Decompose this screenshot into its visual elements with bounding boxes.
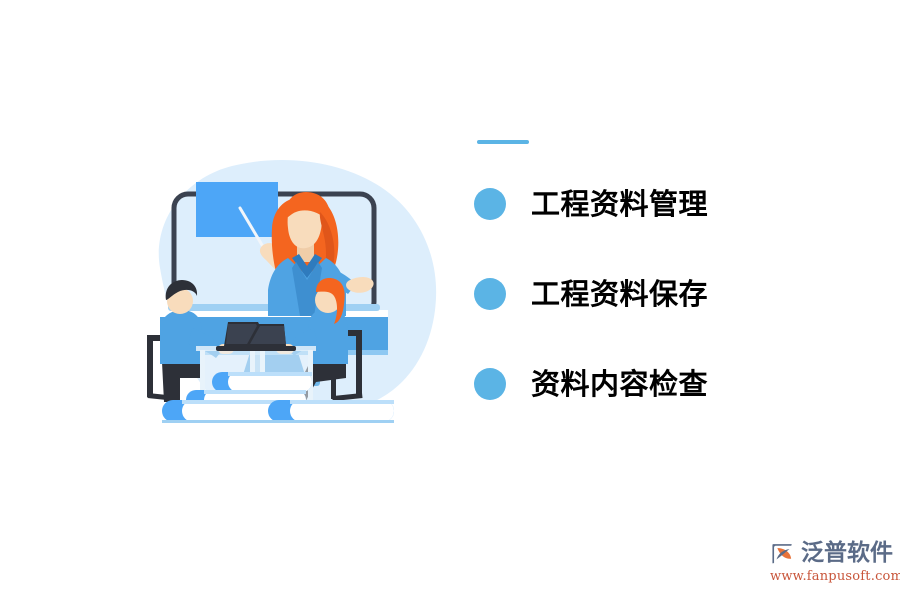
feature-item-2[interactable]: 工程资料保存 (474, 278, 794, 310)
fanpu-logo-icon (770, 540, 796, 566)
accent-rule (477, 140, 529, 144)
brand-url: www.fanpusoft.com (770, 569, 895, 584)
presentation-board (196, 182, 278, 237)
bullet-dot-icon (474, 278, 506, 310)
feature-item-label: 工程资料保存 (531, 280, 708, 309)
online-classroom-illustration (100, 150, 460, 430)
feature-item-label: 工程资料管理 (531, 190, 708, 219)
bullet-dot-icon (474, 368, 506, 400)
bullet-dot-icon (474, 188, 506, 220)
slide-canvas: 工程资料管理 工程资料保存 资料内容检查 泛普软件 www.fanpusoft.… (0, 0, 900, 600)
feature-list: 工程资料管理 工程资料保存 资料内容检查 (474, 140, 794, 400)
logo-row: 泛普软件 (770, 540, 895, 566)
brand-logo[interactable]: 泛普软件 www.fanpusoft.com (770, 540, 895, 592)
feature-item-3[interactable]: 资料内容检查 (474, 368, 794, 400)
feature-item-1[interactable]: 工程资料管理 (474, 188, 794, 220)
brand-name: 泛普软件 (801, 542, 893, 565)
feature-item-label: 资料内容检查 (531, 370, 708, 399)
